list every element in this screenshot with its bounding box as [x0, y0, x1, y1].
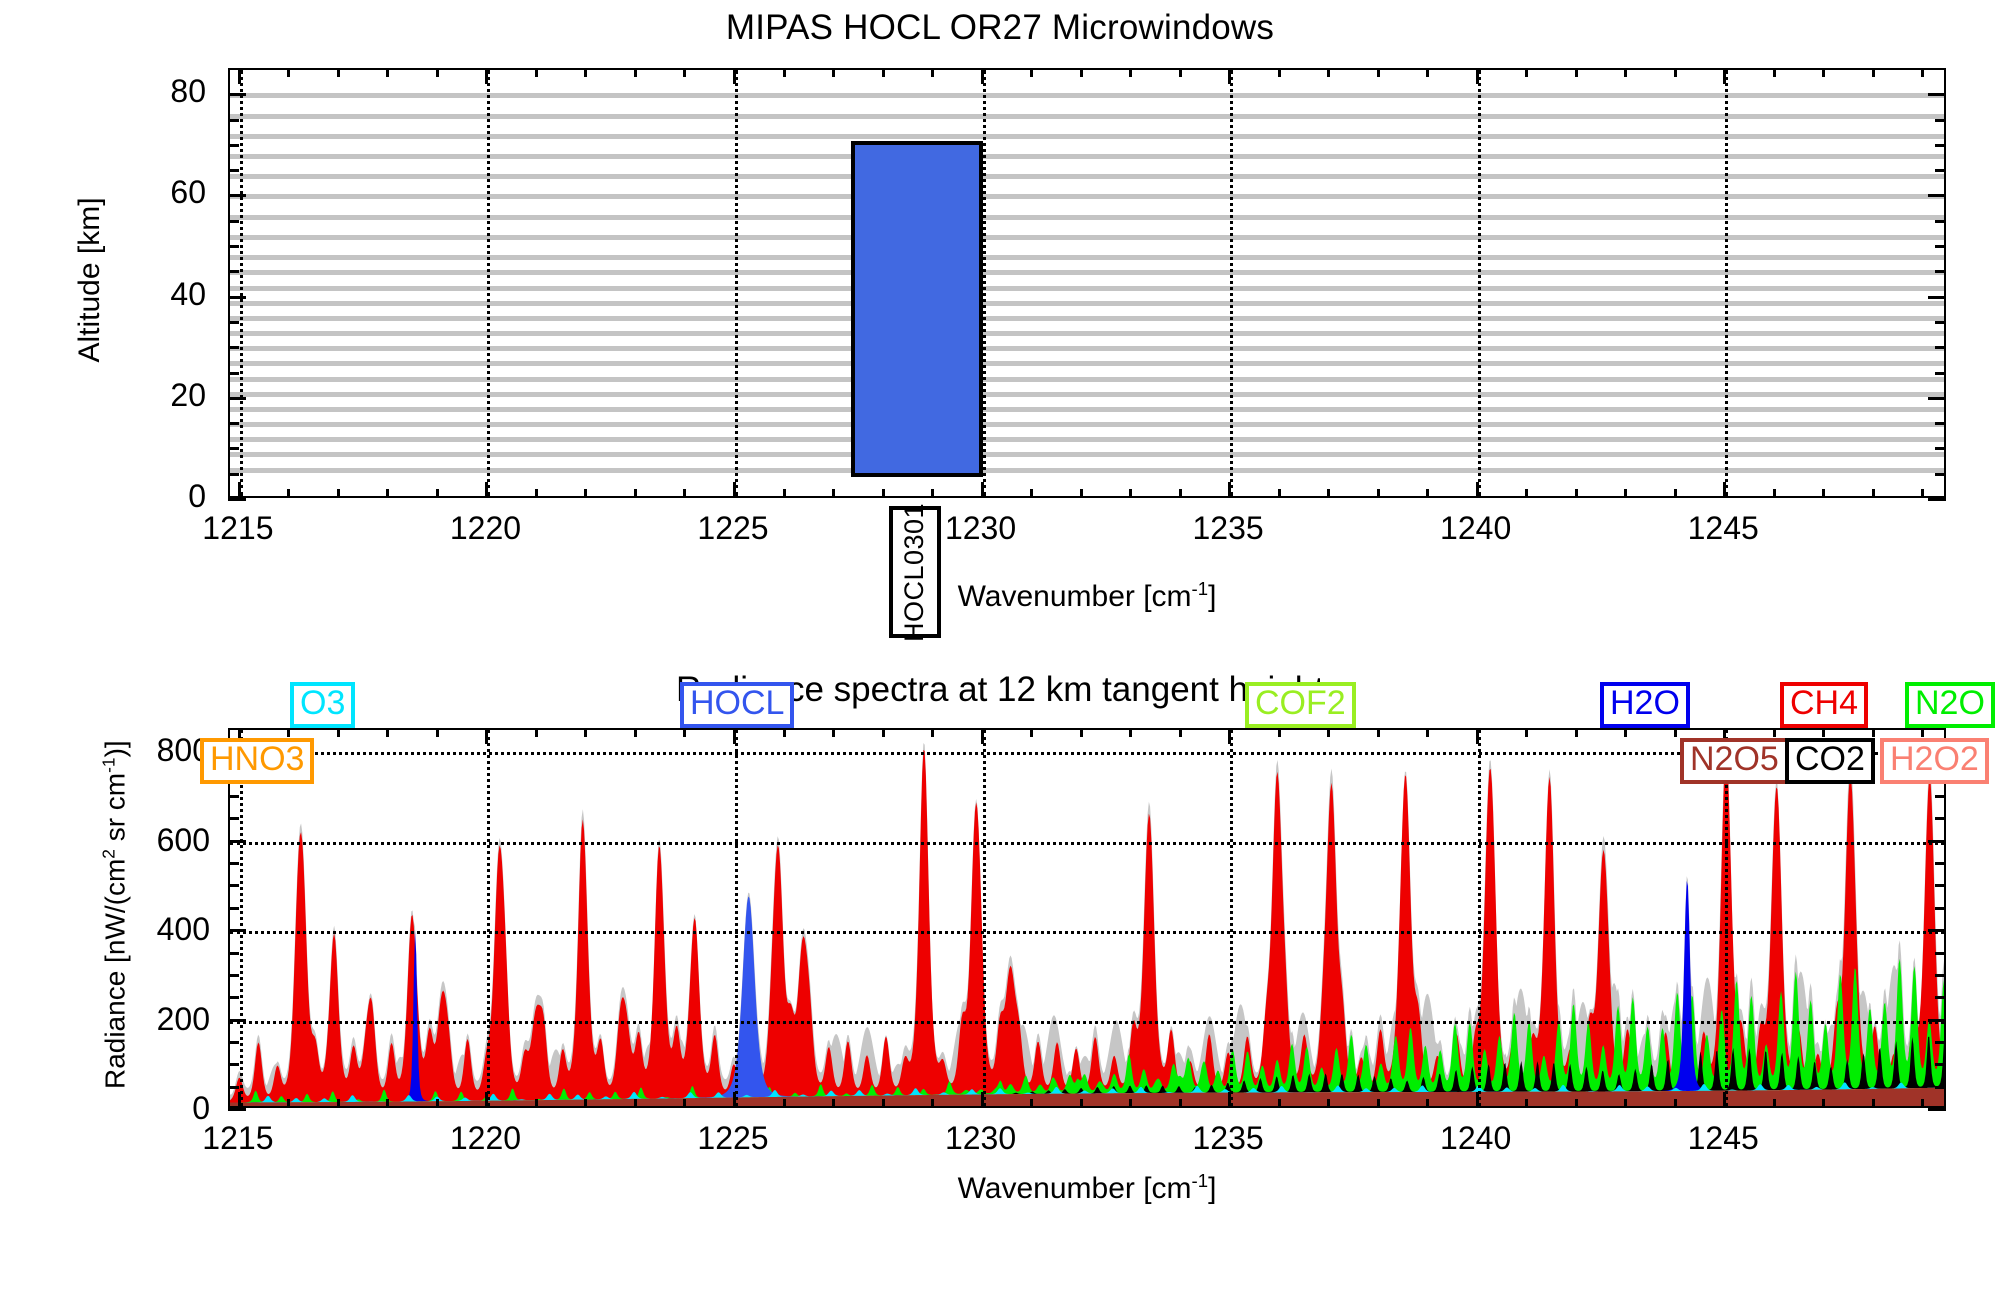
top-x-tick-mark: [1327, 68, 1330, 77]
top-x-tick-mark: [1476, 482, 1479, 498]
bottom-x-tick-mark: [287, 1099, 290, 1108]
bottom-x-tick-mark: [832, 1099, 835, 1108]
microwindow-label-text: HOCL0301: [899, 502, 930, 641]
top-y-tick-label: 20: [86, 379, 206, 411]
top-x-tick-mark: [1575, 489, 1578, 498]
spectra-gridline-v: [1725, 730, 1728, 1106]
bottom-x-tick-mark: [733, 728, 736, 744]
bottom-x-tick-mark: [584, 728, 587, 737]
top-y-tick-label: 0: [86, 480, 206, 512]
spectra-gridline-v: [240, 730, 243, 1106]
bottom-x-tick-mark: [1129, 1099, 1132, 1108]
bottom-x-tick-label: 1235: [1193, 1120, 1264, 1157]
bottom-x-tick-mark: [1080, 1099, 1083, 1108]
legend-chip-co2[interactable]: CO2: [1785, 738, 1875, 784]
bottom-x-tick-mark: [1921, 728, 1924, 737]
bottom-y-tick-mark: [228, 840, 246, 843]
bottom-x-tick-mark: [238, 1092, 241, 1108]
top-plot-area: [228, 68, 1946, 498]
top-x-tick-mark: [1822, 68, 1825, 77]
top-x-tick-mark: [485, 68, 488, 84]
top-x-tick-label: 1220: [450, 510, 521, 547]
legend-chip-ch4[interactable]: CH4: [1780, 682, 1868, 728]
legend-chip-o3[interactable]: O3: [290, 682, 355, 728]
legend-chip-h2o2[interactable]: H2O2: [1880, 738, 1989, 784]
top-x-axis-label-text: Wavenumber [cm: [958, 580, 1192, 613]
top-x-tick-mark: [1030, 489, 1033, 498]
top-x-tick-mark: [1476, 68, 1479, 84]
spectra-panel: Radiance spectra at 12 km tangent height…: [0, 640, 2000, 1300]
top-x-tick-mark: [1327, 489, 1330, 498]
bottom-y-tick-mark: [1935, 795, 1946, 798]
bottom-y-tick-mark: [228, 1041, 239, 1044]
top-x-tick-mark: [783, 68, 786, 77]
bottom-y-tick-mark: [1928, 1019, 1946, 1022]
bottom-y-tick-mark: [1928, 929, 1946, 932]
spectra-gridline-v: [1230, 730, 1233, 1106]
top-y-tick-mark: [228, 397, 246, 400]
top-x-tick-mark: [337, 68, 340, 77]
top-x-tick-mark: [1179, 68, 1182, 77]
spectra-gridline-v: [983, 730, 986, 1106]
top-x-tick-mark: [1872, 68, 1875, 77]
top-x-tick-mark: [1426, 68, 1429, 77]
top-y-tick-mark: [228, 194, 246, 197]
top-y-minor-tick: [228, 119, 239, 122]
bottom-y-tick-mark: [1935, 884, 1946, 887]
spectra-gridline-v: [1478, 730, 1481, 1106]
figure-canvas: MIPAS HOCL OR27 Microwindows 020406080Al…: [0, 0, 2000, 1300]
bottom-x-tick-mark: [882, 728, 885, 737]
top-x-tick-mark: [436, 489, 439, 498]
top-x-tick-mark: [1129, 68, 1132, 77]
top-x-tick-mark: [931, 68, 934, 77]
altitude-gridlines: [230, 70, 1944, 496]
bottom-x-axis-label-text: Wavenumber [cm: [958, 1172, 1192, 1205]
top-x-tick-mark: [1723, 482, 1726, 498]
top-y-minor-tick: [228, 220, 239, 223]
bottom-x-tick-label: 1230: [945, 1120, 1016, 1157]
top-x-tick-mark: [238, 68, 241, 84]
bottom-x-tick-mark: [1624, 1099, 1627, 1108]
bottom-x-axis-label-exponent: -1: [1192, 1170, 1209, 1191]
bottom-x-tick-mark: [981, 728, 984, 744]
top-x-tick-mark: [238, 482, 241, 498]
top-y-tick-mark: [228, 498, 246, 501]
bottom-x-tick-mark: [1872, 728, 1875, 737]
bottom-x-tick-mark: [1921, 1099, 1924, 1108]
top-x-tick-mark: [882, 489, 885, 498]
top-x-tick-mark: [535, 489, 538, 498]
top-y-axis-label: Altitude [km]: [73, 180, 107, 380]
bottom-x-tick-mark: [1674, 728, 1677, 737]
top-x-tick-label: 1225: [697, 510, 768, 547]
top-panel-title: MIPAS HOCL OR27 Microwindows: [0, 8, 2000, 48]
top-x-tick-mark: [1030, 68, 1033, 77]
bottom-x-tick-label: 1215: [202, 1120, 273, 1157]
microwindow-box-HOCL0301[interactable]: [851, 141, 982, 477]
top-x-tick-mark: [783, 489, 786, 498]
bottom-x-tick-mark: [485, 728, 488, 744]
top-x-tick-label: 1240: [1440, 510, 1511, 547]
top-x-tick-mark: [1723, 68, 1726, 84]
top-y-tick-mark: [1928, 397, 1946, 400]
bottom-x-tick-mark: [683, 1099, 686, 1108]
bottom-x-tick-mark: [1476, 728, 1479, 744]
bottom-x-tick-mark: [1575, 1099, 1578, 1108]
top-y-minor-tick: [228, 372, 239, 375]
legend-chip-h2o[interactable]: H2O: [1600, 682, 1690, 728]
bottom-x-tick-mark: [634, 1099, 637, 1108]
top-x-tick-mark: [683, 68, 686, 77]
top-x-tick-mark: [1228, 482, 1231, 498]
bottom-x-tick-mark: [1080, 728, 1083, 737]
top-x-tick-mark: [337, 489, 340, 498]
bottom-y-tick-mark: [228, 974, 239, 977]
top-x-axis-label-exponent: -1: [1192, 578, 1209, 599]
top-y-minor-tick: [1935, 321, 1946, 324]
bottom-x-tick-mark: [1179, 728, 1182, 737]
bottom-x-tick-mark: [1377, 728, 1380, 737]
top-y-minor-tick: [1935, 447, 1946, 450]
top-x-tick-mark: [1080, 68, 1083, 77]
top-x-tick-mark: [1525, 489, 1528, 498]
top-x-tick-mark: [832, 489, 835, 498]
bottom-x-tick-mark: [832, 728, 835, 737]
top-x-axis-label-close: ]: [1208, 580, 1216, 613]
bottom-x-tick-mark: [1228, 1092, 1231, 1108]
top-x-tick-mark: [683, 489, 686, 498]
bottom-x-tick-mark: [337, 728, 340, 737]
top-x-tick-mark: [1872, 489, 1875, 498]
top-x-tick-mark: [386, 489, 389, 498]
top-y-minor-tick: [228, 245, 239, 248]
top-x-tick-mark: [1921, 68, 1924, 77]
top-x-tick-label: 1245: [1688, 510, 1759, 547]
top-y-minor-tick: [228, 169, 239, 172]
top-x-tick-mark: [832, 68, 835, 77]
top-x-tick-mark: [981, 68, 984, 84]
bottom-x-tick-label: 1240: [1440, 1120, 1511, 1157]
bottom-x-tick-mark: [683, 728, 686, 737]
legend-chip-n2o5[interactable]: N2O5: [1680, 738, 1789, 784]
bottom-y-tick-mark: [1935, 862, 1946, 865]
bottom-y-tick-mark: [228, 1019, 246, 1022]
top-x-tick-mark: [931, 489, 934, 498]
top-y-tick-mark: [228, 93, 246, 96]
top-grid-vline: [1725, 70, 1728, 496]
bottom-x-tick-mark: [1327, 728, 1330, 737]
bottom-x-tick-mark: [1030, 1099, 1033, 1108]
spectra-gridline-v: [735, 730, 738, 1106]
bottom-y-tick-mark: [1935, 952, 1946, 955]
bottom-x-tick-mark: [287, 728, 290, 737]
bottom-x-tick-mark: [1525, 728, 1528, 737]
top-x-tick-mark: [485, 482, 488, 498]
top-x-tick-label: 1235: [1193, 510, 1264, 547]
top-y-minor-tick: [228, 422, 239, 425]
top-x-tick-mark: [584, 68, 587, 77]
bottom-x-tick-mark: [1723, 1092, 1726, 1108]
bottom-y-tick-mark: [1935, 1063, 1946, 1066]
top-x-tick-mark: [1624, 489, 1627, 498]
top-x-tick-mark: [1377, 68, 1380, 77]
bottom-y-tick-mark: [1935, 1086, 1946, 1089]
top-y-tick-label: 80: [86, 75, 206, 107]
bottom-y-tick-mark: [228, 952, 239, 955]
top-x-tick-mark: [1080, 489, 1083, 498]
top-y-tick-mark: [1928, 296, 1946, 299]
top-x-tick-mark: [1674, 68, 1677, 77]
top-x-tick-mark: [1278, 489, 1281, 498]
bottom-x-tick-mark: [1228, 728, 1231, 744]
top-y-minor-tick: [228, 346, 239, 349]
bottom-x-tick-mark: [1575, 728, 1578, 737]
top-y-minor-tick: [1935, 144, 1946, 147]
bottom-x-tick-mark: [783, 728, 786, 737]
bottom-x-tick-mark: [1674, 1099, 1677, 1108]
bottom-x-tick-mark: [337, 1099, 340, 1108]
bottom-x-tick-mark: [485, 1092, 488, 1108]
bottom-x-tick-mark: [882, 1099, 885, 1108]
bottom-x-tick-mark: [1773, 1099, 1776, 1108]
top-x-tick-mark: [1773, 68, 1776, 77]
bottom-x-tick-mark: [981, 1092, 984, 1108]
bottom-y-tick-mark: [1928, 840, 1946, 843]
top-x-tick-mark: [1674, 489, 1677, 498]
bottom-x-tick-mark: [1377, 1099, 1380, 1108]
top-y-tick-mark: [1928, 498, 1946, 501]
top-x-tick-mark: [1575, 68, 1578, 77]
top-grid-vline: [1478, 70, 1481, 496]
bottom-y-tick-mark: [228, 1086, 239, 1089]
bottom-y-tick-mark: [228, 996, 239, 999]
bottom-x-tick-mark: [1278, 728, 1281, 737]
top-y-tick-mark: [228, 296, 246, 299]
top-y-tick-mark: [1928, 194, 1946, 197]
top-x-tick-mark: [1426, 489, 1429, 498]
bottom-x-tick-mark: [386, 1099, 389, 1108]
bottom-x-tick-mark: [1822, 728, 1825, 737]
bottom-x-tick-label: 1225: [697, 1120, 768, 1157]
top-x-tick-mark: [733, 482, 736, 498]
top-grid-vline: [487, 70, 490, 496]
top-x-tick-mark: [1179, 489, 1182, 498]
bottom-x-tick-mark: [1426, 1099, 1429, 1108]
legend-chip-n2o[interactable]: N2O: [1905, 682, 1995, 728]
bottom-x-tick-mark: [535, 1099, 538, 1108]
bottom-x-tick-mark: [1624, 728, 1627, 737]
bottom-x-tick-mark: [1426, 728, 1429, 737]
top-x-tick-label: 1230: [945, 510, 1016, 547]
top-x-axis-label: Wavenumber [cm-1]: [228, 578, 1946, 614]
top-y-minor-tick: [228, 144, 239, 147]
bottom-y-tick-mark: [228, 1063, 239, 1066]
microwindow-panel: MIPAS HOCL OR27 Microwindows 020406080Al…: [0, 0, 2000, 640]
bottom-x-tick-mark: [1773, 728, 1776, 737]
top-y-minor-tick: [228, 447, 239, 450]
legend-chip-hno3[interactable]: HNO3: [200, 738, 314, 784]
top-x-tick-mark: [1228, 68, 1231, 84]
top-y-minor-tick: [1935, 422, 1946, 425]
top-y-minor-tick: [228, 270, 239, 273]
bottom-y-tick-mark: [1935, 974, 1946, 977]
bottom-y-tick-mark: [228, 929, 246, 932]
top-x-tick-mark: [1773, 489, 1776, 498]
top-x-tick-mark: [287, 489, 290, 498]
bottom-x-tick-mark: [1278, 1099, 1281, 1108]
top-y-minor-tick: [228, 321, 239, 324]
top-x-tick-mark: [1921, 489, 1924, 498]
top-y-minor-tick: [1935, 346, 1946, 349]
top-x-tick-mark: [584, 489, 587, 498]
top-grid-vline: [1230, 70, 1233, 496]
top-y-tick-mark: [1928, 93, 1946, 96]
bottom-x-tick-mark: [1327, 1099, 1330, 1108]
bottom-x-tick-mark: [931, 728, 934, 737]
top-y-minor-tick: [1935, 270, 1946, 273]
bottom-y-tick-mark: [1935, 996, 1946, 999]
top-grid-vline: [983, 70, 986, 496]
bottom-x-tick-mark: [1179, 1099, 1182, 1108]
top-x-tick-mark: [436, 68, 439, 77]
top-y-minor-tick: [1935, 372, 1946, 375]
spectra-gridline-v: [487, 730, 490, 1106]
spectra-plot-area: [228, 728, 1946, 1108]
bottom-y-tick-mark: [228, 884, 239, 887]
microwindow-label-box[interactable]: HOCL0301: [889, 506, 941, 638]
bottom-y-tick-mark: [228, 817, 239, 820]
bottom-y-tick-mark: [1935, 907, 1946, 910]
bottom-y-tick-mark: [1935, 817, 1946, 820]
legend-chip-cof2[interactable]: COF2: [1245, 682, 1356, 728]
top-x-tick-mark: [634, 68, 637, 77]
bottom-x-tick-mark: [634, 728, 637, 737]
bottom-x-tick-mark: [386, 728, 389, 737]
top-y-minor-tick: [228, 473, 239, 476]
top-x-tick-mark: [1278, 68, 1281, 77]
top-y-minor-tick: [1935, 220, 1946, 223]
top-grid-vline: [240, 70, 243, 496]
top-x-tick-mark: [1129, 489, 1132, 498]
top-y-minor-tick: [1935, 119, 1946, 122]
bottom-y-tick-mark: [1935, 1041, 1946, 1044]
bottom-x-tick-mark: [931, 1099, 934, 1108]
bottom-x-tick-mark: [1525, 1099, 1528, 1108]
bottom-x-tick-label: 1220: [450, 1120, 521, 1157]
top-x-tick-mark: [1624, 68, 1627, 77]
bottom-y-tick-mark: [228, 907, 239, 910]
bottom-x-tick-mark: [436, 1099, 439, 1108]
top-y-minor-tick: [1935, 169, 1946, 172]
top-x-tick-label: 1215: [202, 510, 273, 547]
bottom-x-tick-mark: [1822, 1099, 1825, 1108]
legend-chip-hocl[interactable]: HOCL: [680, 682, 794, 728]
bottom-x-tick-label: 1245: [1688, 1120, 1759, 1157]
bottom-x-tick-mark: [436, 728, 439, 737]
bottom-x-tick-mark: [584, 1099, 587, 1108]
bottom-x-tick-mark: [1476, 1092, 1479, 1108]
top-y-minor-tick: [1935, 245, 1946, 248]
top-x-tick-mark: [733, 68, 736, 84]
top-x-tick-mark: [386, 68, 389, 77]
bottom-x-tick-mark: [1129, 728, 1132, 737]
top-x-tick-mark: [634, 489, 637, 498]
top-x-tick-mark: [535, 68, 538, 77]
bottom-x-tick-mark: [1872, 1099, 1875, 1108]
top-grid-vline: [735, 70, 738, 496]
bottom-x-tick-mark: [783, 1099, 786, 1108]
top-x-tick-mark: [287, 68, 290, 77]
bottom-x-axis-label: Wavenumber [cm-1]: [228, 1170, 1946, 1206]
bottom-x-tick-mark: [733, 1092, 736, 1108]
bottom-y-tick-mark: [228, 1108, 246, 1111]
bottom-x-axis-label-close: ]: [1208, 1172, 1216, 1205]
top-x-tick-mark: [981, 482, 984, 498]
bottom-x-tick-mark: [1030, 728, 1033, 737]
bottom-y-tick-mark: [228, 862, 239, 865]
top-x-tick-mark: [1525, 68, 1528, 77]
bottom-y-tick-mark: [1928, 1108, 1946, 1111]
bottom-y-tick-mark: [228, 795, 239, 798]
top-x-tick-mark: [1822, 489, 1825, 498]
top-x-tick-mark: [1377, 489, 1380, 498]
bottom-y-axis-label: Radiance [nW/(cm2 sr cm-1)]: [98, 655, 131, 1175]
top-y-minor-tick: [1935, 473, 1946, 476]
bottom-x-tick-mark: [535, 728, 538, 737]
top-x-tick-mark: [882, 68, 885, 77]
